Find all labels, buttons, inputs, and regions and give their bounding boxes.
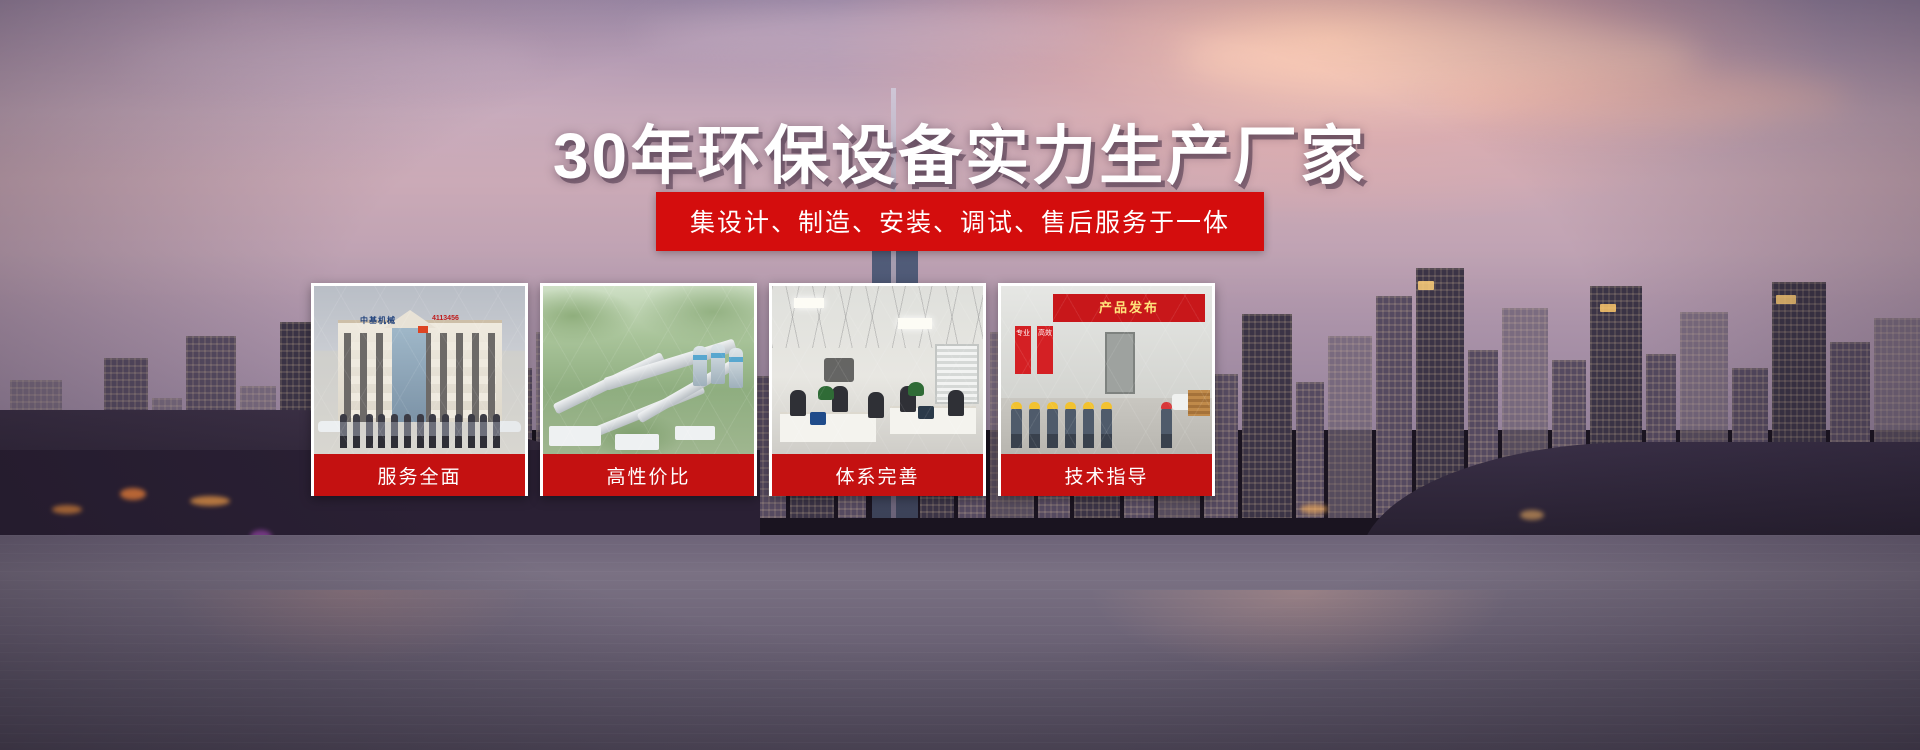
card-caption: 服务全面 (314, 454, 525, 496)
card-caption: 技术指导 (1001, 454, 1212, 496)
water-reflection (0, 590, 1920, 750)
watermark-overlay (314, 286, 525, 454)
watermark-overlay (1001, 286, 1212, 454)
hero-banner: 30年环保设备实力生产厂家 集设计、制造、安装、调试、售后服务于一体 中基机械 … (0, 0, 1920, 750)
feature-card-system[interactable]: 体系完善 (769, 283, 986, 496)
feature-card-value[interactable]: 高性价比 (540, 283, 757, 496)
watermark-overlay (772, 286, 983, 454)
cloud-shape (120, 30, 540, 90)
feature-card-guidance[interactable]: 产品发布 专业 高效 技术指 (998, 283, 1215, 496)
card-thumbnail-building: 中基机械 4113456 (314, 286, 525, 454)
shore-light (52, 505, 82, 514)
shore-light (190, 496, 230, 506)
card-caption: 体系完善 (772, 454, 983, 496)
cloud-shape (640, 8, 1100, 58)
card-thumbnail-workshop: 产品发布 专业 高效 (1001, 286, 1212, 454)
shore-light (1300, 504, 1328, 514)
watermark-overlay (543, 286, 754, 454)
card-thumbnail-office (772, 286, 983, 454)
feature-card-service[interactable]: 中基机械 4113456 服务全面 (311, 283, 528, 496)
page-title: 30年环保设备实力生产厂家 (0, 105, 1920, 197)
card-caption: 高性价比 (543, 454, 754, 496)
card-thumbnail-plant (543, 286, 754, 454)
feature-card-list: 中基机械 4113456 服务全面 (311, 283, 1251, 496)
shore-light (1520, 510, 1544, 520)
shore-light (120, 488, 146, 500)
subtitle-badge: 集设计、制造、安装、调试、售后服务于一体 (656, 192, 1264, 251)
